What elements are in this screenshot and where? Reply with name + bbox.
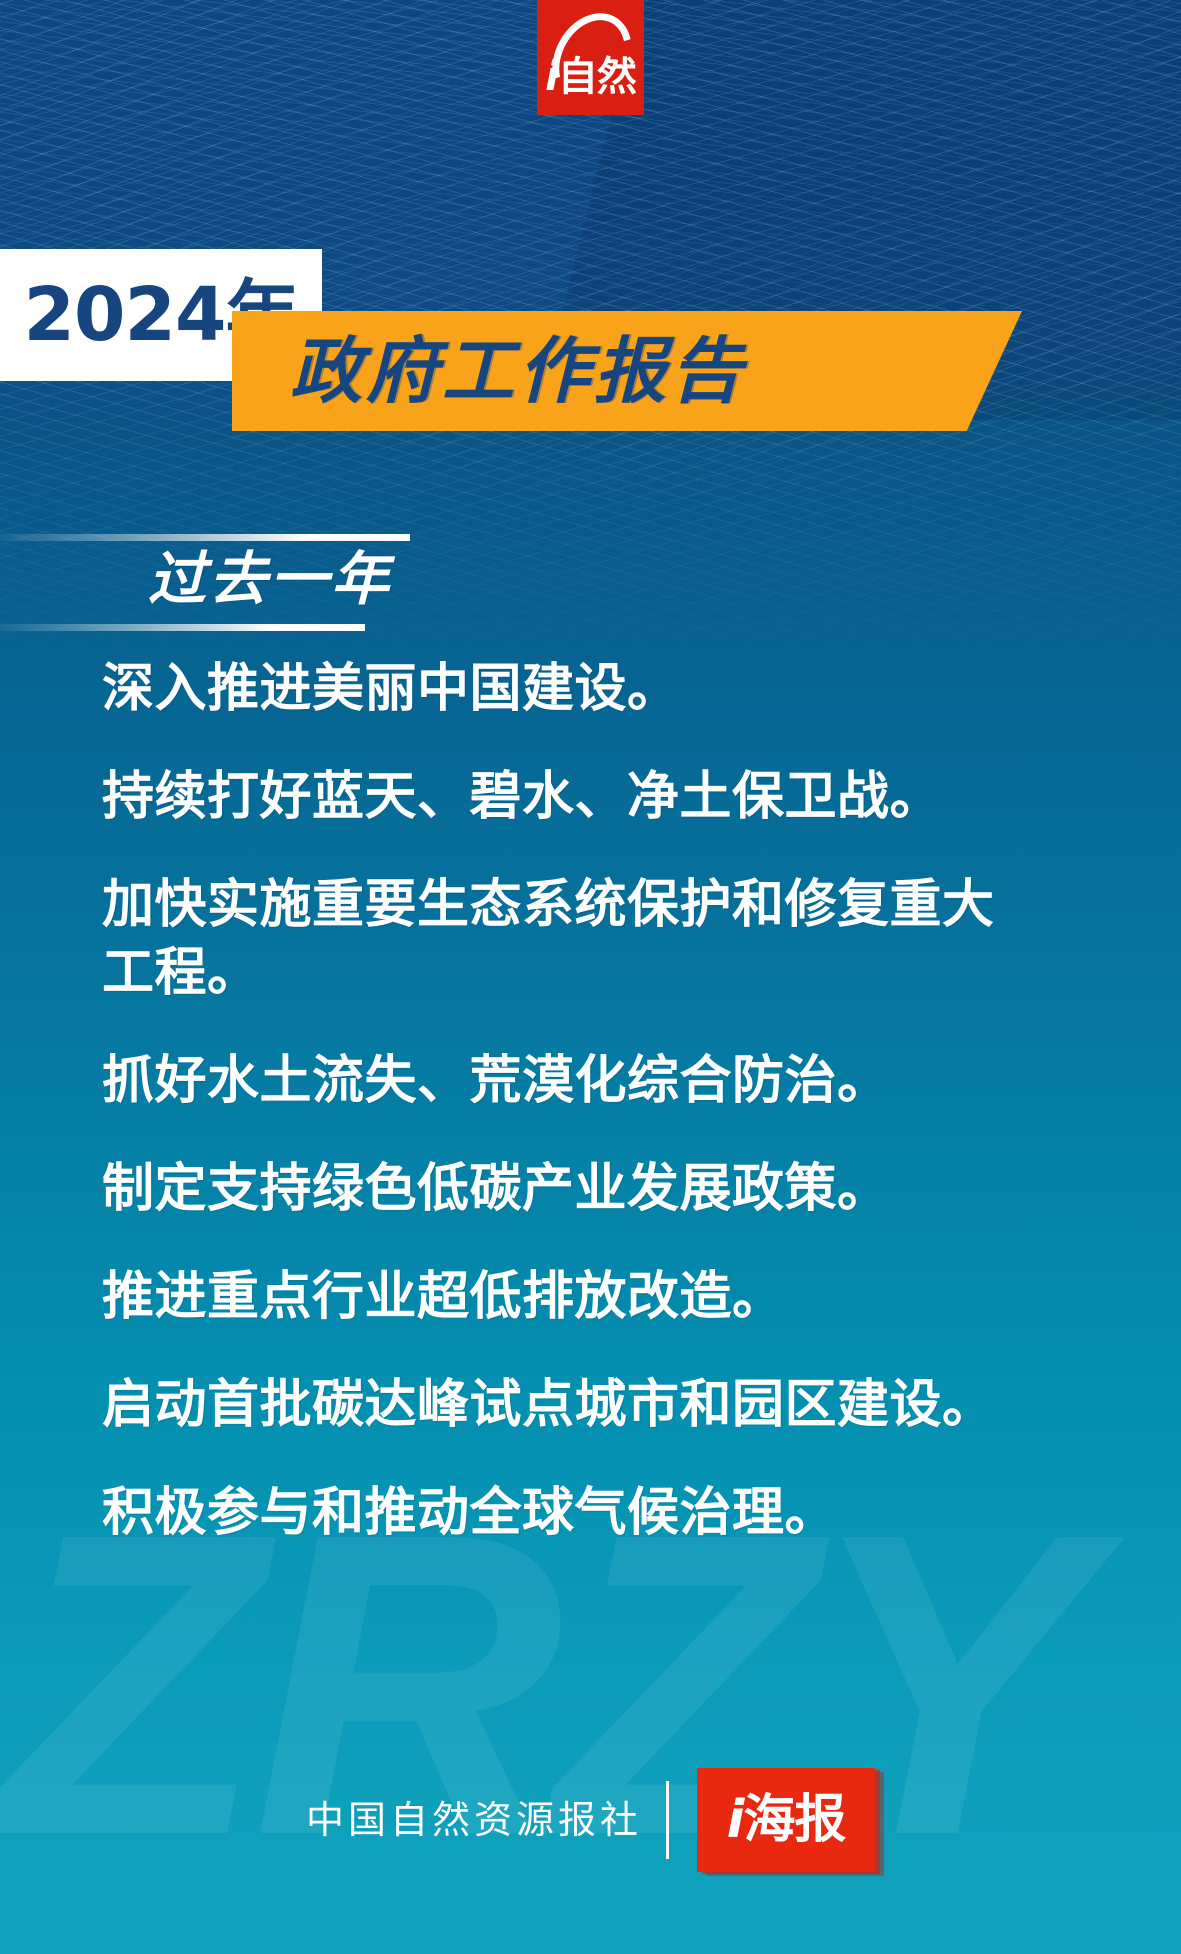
footer: 中国自然资源报社 i海报 [0,1768,1181,1872]
footer-product-logo-ihaibao: i海报 [697,1768,875,1872]
poster-canvas: ZRZY i自然 2024年 政府工作报告 过去一年 深入推进美丽中国建设。 持… [0,0,1181,1954]
footer-publisher-label: 中国自然资源报社 [306,1798,642,1842]
list-item: 深入推进美丽中国建设。 [102,655,1040,723]
footer-divider [666,1781,669,1859]
divider-line-top [0,534,410,541]
content-list: 深入推进美丽中国建设。 持续打好蓝天、碧水、净土保卫战。 加快实施重要生态系统保… [102,655,1102,1547]
list-item: 推进重点行业超低排放改造。 [102,1263,1040,1331]
list-item: 积极参与和推动全球气候治理。 [102,1479,1040,1547]
section-subtitle-block: 过去一年 [0,500,1181,640]
brand-logo-izran: i自然 [537,0,644,115]
footer-logo-wordmark: i海报 [727,1792,846,1848]
divider-line-bottom [0,624,365,631]
section-subtitle-label: 过去一年 [148,548,392,610]
logo-wordmark: i自然 [545,57,636,115]
list-item: 制定支持绿色低碳产业发展政策。 [102,1155,1040,1223]
list-item: 加快实施重要生态系统保护和修复重大工程。 [102,871,1040,1007]
title-banner-text-wrap: 政府工作报告 [290,315,990,427]
page-title: 政府工作报告 [290,335,746,407]
footer-logo-label-haibao: 海报 [743,1790,845,1850]
list-item: 抓好水土流失、荒漠化综合防治。 [102,1047,1040,1115]
logo-label-ziran: 自然 [558,54,636,100]
list-item: 持续打好蓝天、碧水、净土保卫战。 [102,763,1040,831]
logo-letter-i: i [545,54,558,100]
list-item: 启动首批碳达峰试点城市和园区建设。 [102,1371,1040,1439]
footer-product-logo-wrap: i海报 [697,1768,875,1872]
footer-logo-letter-i: i [727,1790,744,1850]
